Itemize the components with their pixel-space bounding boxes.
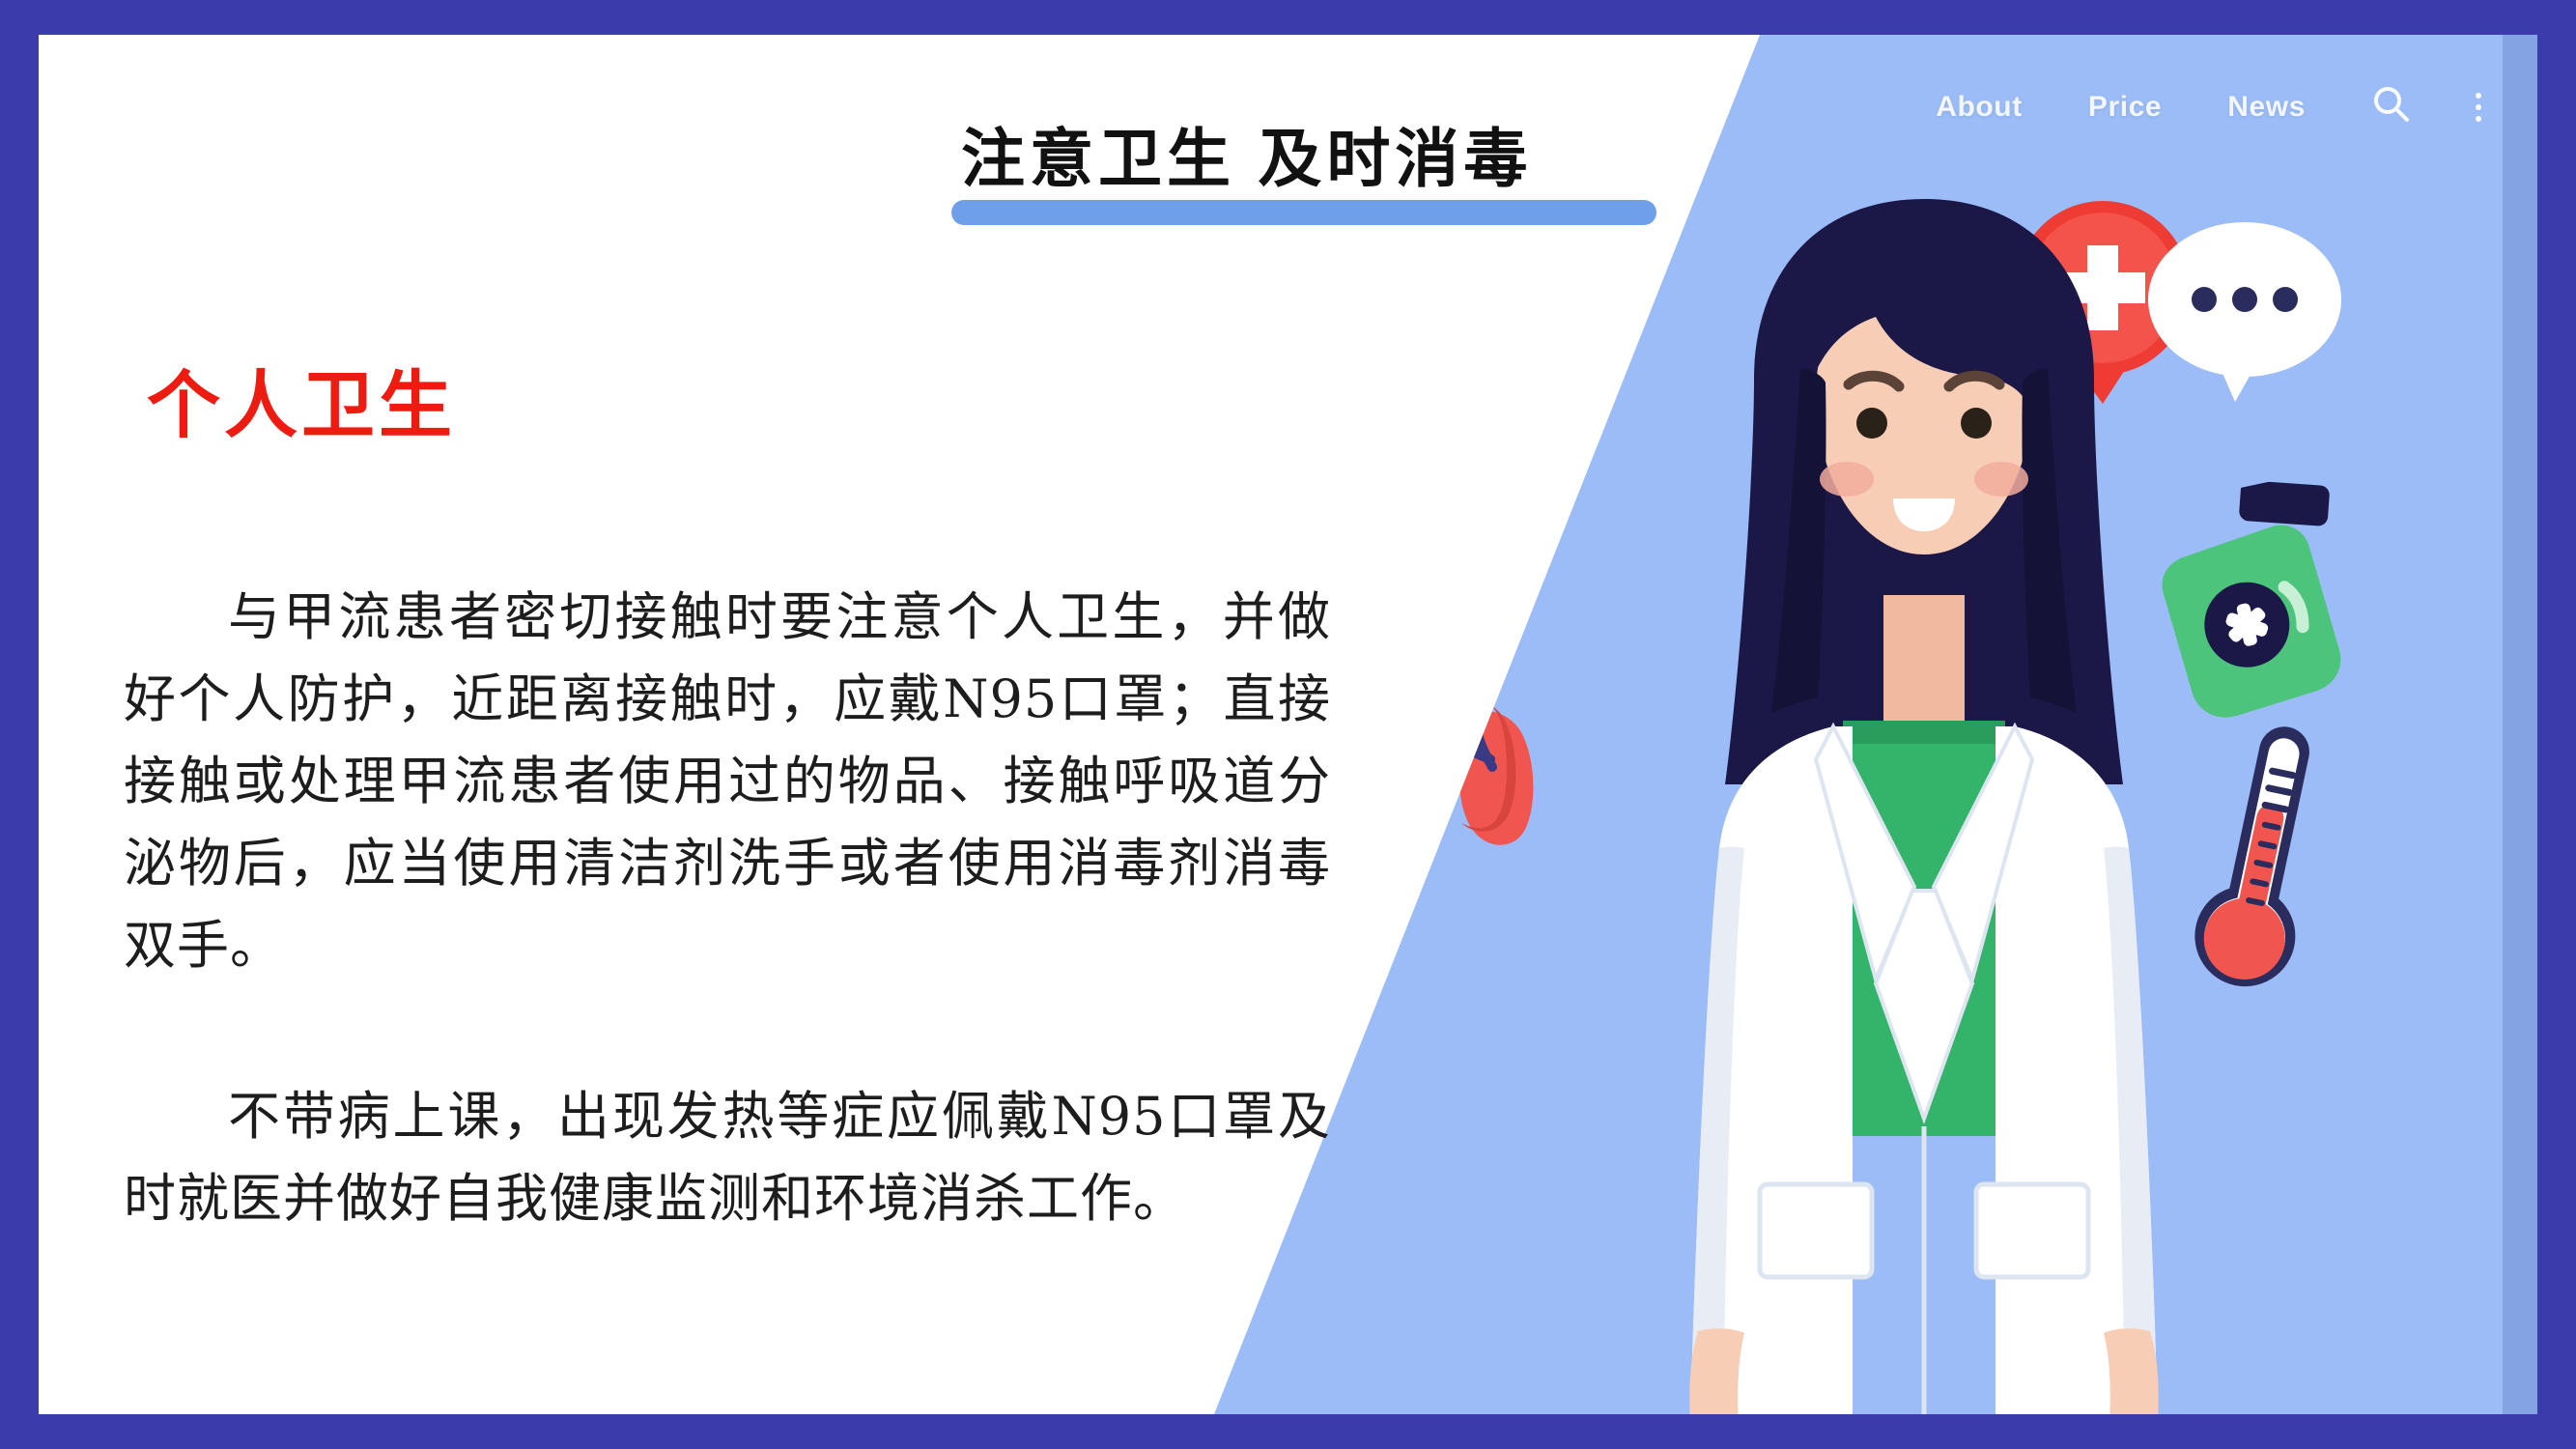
- body-text-column: 与甲流患者密切接触时要注意个人卫生，并做好个人防护，近距离接触时，应戴N95口罩…: [124, 576, 1331, 1239]
- navbar: About Price News: [1936, 85, 2481, 128]
- menu-dot: [2476, 104, 2481, 110]
- capsule-pill-icon: [1316, 384, 1562, 574]
- lungs-icon: [1330, 653, 1562, 846]
- page-title: 注意卫生 及时消毒: [961, 107, 1532, 200]
- more-vertical-icon[interactable]: [2476, 93, 2481, 122]
- menu-dot: [2476, 93, 2481, 99]
- slide-frame: About Price News 注意卫生 及时消毒: [0, 0, 2576, 1449]
- title-underline-bar: [951, 200, 1656, 225]
- female-doctor-illustration: [1654, 180, 2194, 1414]
- menu-dot: [2476, 116, 2481, 122]
- nav-news[interactable]: News: [2227, 91, 2306, 124]
- body-paragraph-1: 与甲流患者密切接触时要注意个人卫生，并做好个人防护，近距离接触时，应戴N95口罩…: [124, 576, 1331, 986]
- nav-about[interactable]: About: [1936, 91, 2023, 124]
- body-paragraph-2: 不带病上课，出现发热等症应佩戴N95口罩及时就医并做好自我健康监测和环境消杀工作…: [124, 1075, 1331, 1239]
- illustration-panel: About Price News: [1214, 35, 2537, 1414]
- search-icon[interactable]: [2371, 85, 2410, 128]
- slide-content-area: About Price News 注意卫生 及时消毒: [39, 35, 2537, 1414]
- section-heading: 个人卫生: [147, 346, 456, 452]
- slide-title-group: 注意卫生 及时消毒: [961, 107, 1532, 200]
- panel-edge-shade: [2503, 35, 2537, 1414]
- nav-price[interactable]: Price: [2088, 91, 2162, 124]
